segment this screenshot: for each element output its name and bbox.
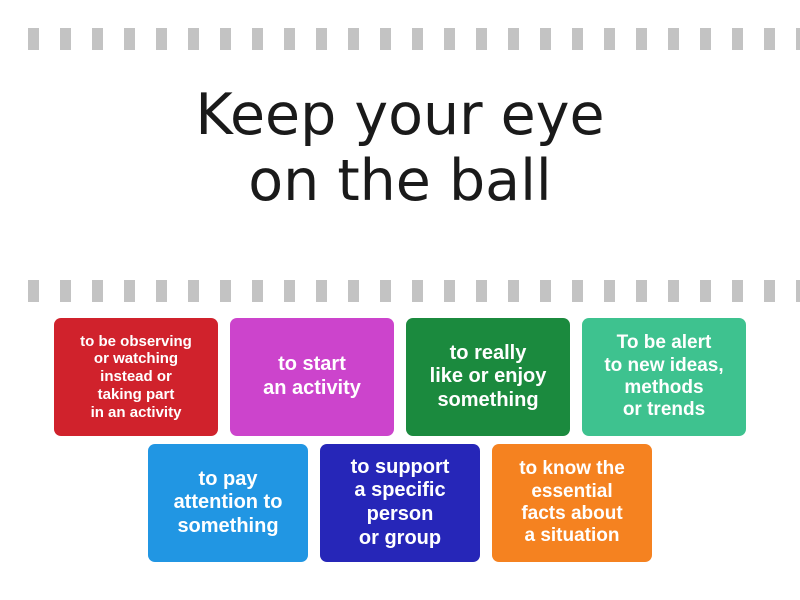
divider-tick: [92, 280, 103, 302]
card-definition-3[interactable]: to really like or enjoy something: [406, 318, 570, 436]
divider-tick: [572, 28, 583, 50]
divider-tick: [60, 280, 71, 302]
card-definition-4[interactable]: To be alert to new ideas, methods or tre…: [582, 318, 746, 436]
divider-tick: [508, 280, 519, 302]
divider-tick: [796, 280, 800, 302]
divider-tick: [572, 280, 583, 302]
card-definition-6[interactable]: to support a specific person or group: [320, 444, 480, 562]
divider-tick: [156, 280, 167, 302]
divider-tick: [636, 28, 647, 50]
card-definition-7[interactable]: to know the essential facts about a situ…: [492, 444, 652, 562]
divider-bottom: [0, 280, 800, 302]
divider-tick: [732, 280, 743, 302]
divider-tick: [316, 28, 327, 50]
divider-tick: [444, 280, 455, 302]
cards-area: to be observing or watching instead or t…: [0, 318, 800, 562]
divider-tick: [124, 28, 135, 50]
divider-tick: [28, 280, 39, 302]
divider-tick: [604, 280, 615, 302]
divider-tick: [380, 280, 391, 302]
divider-tick: [764, 280, 775, 302]
card-row-1: to be observing or watching instead or t…: [0, 318, 800, 436]
divider-tick: [316, 280, 327, 302]
divider-tick: [60, 28, 71, 50]
divider-tick: [796, 28, 800, 50]
divider-tick: [284, 28, 295, 50]
divider-tick: [28, 28, 39, 50]
divider-tick: [220, 28, 231, 50]
divider-tick: [252, 280, 263, 302]
divider-tick: [412, 28, 423, 50]
divider-tick: [188, 280, 199, 302]
divider-top: [0, 28, 800, 50]
divider-tick: [476, 28, 487, 50]
divider-tick: [348, 280, 359, 302]
divider-tick: [508, 28, 519, 50]
divider-tick: [636, 280, 647, 302]
match-up-activity: Keep your eye on the ball to be observin…: [0, 0, 800, 600]
divider-tick: [252, 28, 263, 50]
divider-tick: [540, 28, 551, 50]
divider-tick: [668, 280, 679, 302]
divider-tick: [476, 280, 487, 302]
divider-tick: [412, 280, 423, 302]
card-definition-5[interactable]: to pay attention to something: [148, 444, 308, 562]
divider-tick: [444, 28, 455, 50]
divider-tick: [604, 28, 615, 50]
divider-tick: [700, 28, 711, 50]
divider-tick: [92, 28, 103, 50]
divider-tick: [124, 280, 135, 302]
divider-tick: [284, 280, 295, 302]
card-definition-1[interactable]: to be observing or watching instead or t…: [54, 318, 218, 436]
divider-tick: [540, 280, 551, 302]
divider-tick: [220, 280, 231, 302]
divider-tick: [764, 28, 775, 50]
card-row-2: to pay attention to something to support…: [0, 444, 800, 562]
divider-tick: [188, 28, 199, 50]
divider-tick: [380, 28, 391, 50]
page-title: Keep your eye on the ball: [0, 82, 800, 214]
card-definition-2[interactable]: to start an activity: [230, 318, 394, 436]
divider-tick: [668, 28, 679, 50]
divider-tick: [700, 280, 711, 302]
divider-tick: [348, 28, 359, 50]
divider-tick: [732, 28, 743, 50]
divider-tick: [156, 28, 167, 50]
